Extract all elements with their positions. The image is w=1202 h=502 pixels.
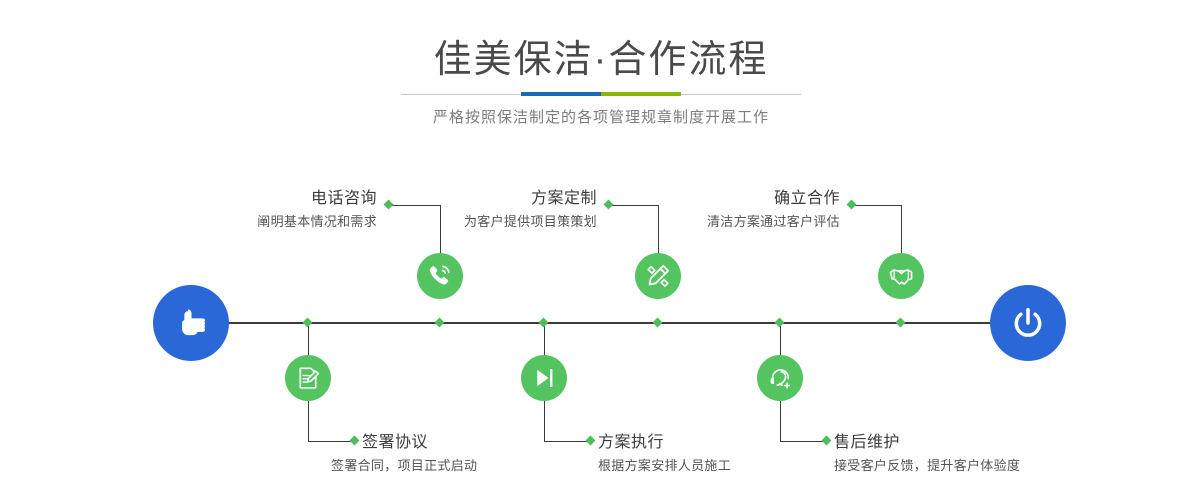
timeline-start-endpoint[interactable] <box>153 285 229 361</box>
divider-line-left <box>401 94 521 95</box>
axis-marker-establish-cooperation <box>896 318 906 328</box>
step-icon-phone-consult[interactable] <box>417 253 463 299</box>
step-desc-plan-customize: 为客户提供项目策策划 <box>320 211 597 230</box>
step-desc-establish-cooperation: 清洁方案通过客户评估 <box>563 211 840 230</box>
connector-plan-customize-horizontal <box>610 205 659 206</box>
timeline-axis <box>155 322 1055 324</box>
pencil-ruler-icon <box>645 263 671 289</box>
marker-plan-customize <box>604 200 614 210</box>
divider-segment-green <box>601 92 681 96</box>
marker-establish-cooperation <box>847 200 857 210</box>
page-subtitle: 严格按照保洁制定的各项管理规章制度开展工作 <box>0 106 1202 127</box>
page-title: 佳美保洁·合作流程 <box>0 36 1202 84</box>
phone-call-icon <box>427 263 453 289</box>
step-icon-plan-execute[interactable] <box>521 355 567 401</box>
axis-marker-plan-customize <box>653 318 663 328</box>
connector-phone-consult-vertical <box>440 205 441 255</box>
title-divider <box>401 92 801 96</box>
divider-segment-blue <box>521 92 601 96</box>
step-title-phone-consult: 电话咨询 <box>165 184 377 208</box>
axis-marker-after-sales <box>775 318 785 328</box>
page-header: 佳美保洁·合作流程 严格按照保洁制定的各项管理规章制度开展工作 <box>0 0 1202 145</box>
connector-plan-customize-vertical <box>658 205 659 255</box>
play-skip-icon <box>532 366 556 390</box>
pointing-hand-icon <box>170 302 212 344</box>
axis-marker-sign-agreement <box>303 318 313 328</box>
connector-establish-cooperation-vertical <box>901 205 902 255</box>
power-button-icon <box>1008 303 1048 343</box>
marker-sign-agreement <box>350 436 360 446</box>
process-timeline: 电话咨询 阐明基本情况和需求 签署协议 签署合同，项目正式启动 <box>0 145 1202 502</box>
step-icon-after-sales[interactable] <box>757 355 803 401</box>
handshake-icon <box>888 263 914 289</box>
axis-marker-phone-consult <box>435 318 445 328</box>
connector-phone-consult-horizontal <box>390 205 441 206</box>
step-title-sign-agreement: 签署协议 <box>362 428 602 452</box>
step-title-establish-cooperation: 确立合作 <box>633 184 840 208</box>
connector-after-sales-horizontal <box>780 441 828 442</box>
connector-plan-execute-horizontal <box>544 441 592 442</box>
step-icon-establish-cooperation[interactable] <box>878 253 924 299</box>
document-pen-icon <box>295 365 321 391</box>
step-title-plan-execute: 方案执行 <box>598 428 838 452</box>
connector-sign-agreement-horizontal <box>308 441 356 442</box>
axis-marker-plan-execute <box>539 318 549 328</box>
headset-support-icon <box>768 366 793 391</box>
connector-establish-cooperation-horizontal <box>853 205 902 206</box>
timeline-end-endpoint[interactable] <box>990 285 1066 361</box>
step-icon-plan-customize[interactable] <box>635 253 681 299</box>
step-title-after-sales: 售后维护 <box>834 428 1094 452</box>
step-icon-sign-agreement[interactable] <box>285 355 331 401</box>
step-desc-after-sales: 接受客户反馈，提升客户体验度 <box>834 455 1154 474</box>
step-desc-sign-agreement: 签署合同，项目正式启动 <box>331 455 631 474</box>
divider-line-right <box>681 94 801 95</box>
